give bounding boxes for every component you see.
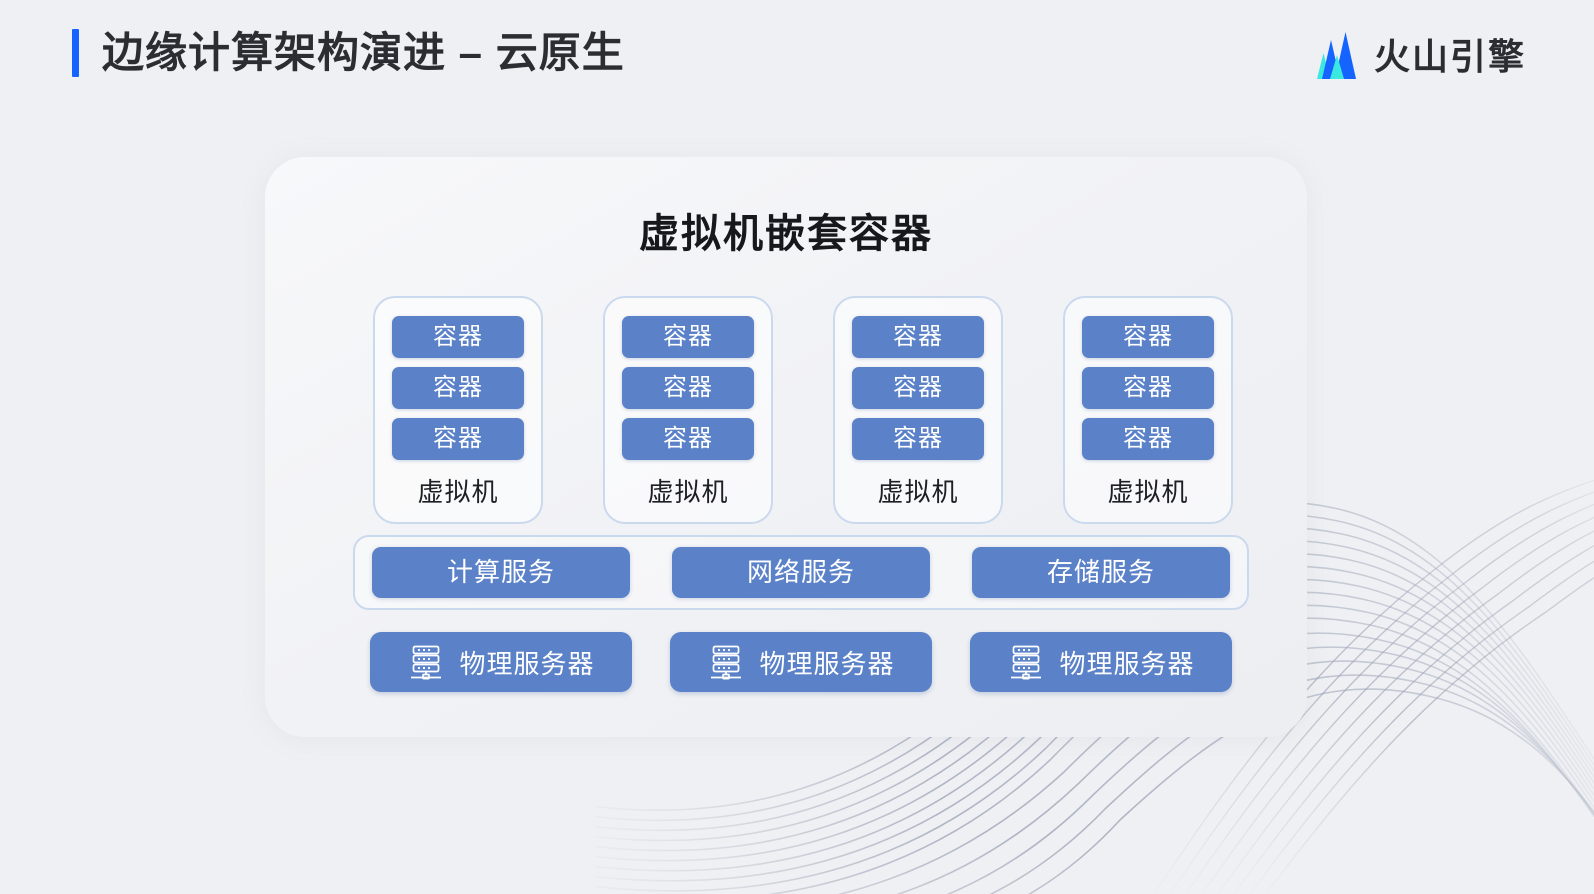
container-chip[interactable]: 容器 xyxy=(392,418,524,460)
physical-server-label: 物理服务器 xyxy=(459,644,594,681)
page-title: 边缘计算架构演进 – 云原生 xyxy=(102,24,625,82)
brand-name: 火山引擎 xyxy=(1374,28,1526,80)
physical-server-chip[interactable]: 物理服务器 xyxy=(370,632,632,692)
container-chip[interactable]: 容器 xyxy=(392,316,524,358)
container-chip[interactable]: 容器 xyxy=(392,367,524,409)
container-chip[interactable]: 容器 xyxy=(852,367,984,409)
container-chip[interactable]: 容器 xyxy=(622,367,754,409)
brand-logo: 火山引擎 xyxy=(1308,28,1526,80)
physical-server-chip[interactable]: 物理服务器 xyxy=(670,632,932,692)
container-chip[interactable]: 容器 xyxy=(1082,316,1214,358)
server-rack-icon xyxy=(407,643,445,681)
container-chip[interactable]: 容器 xyxy=(622,316,754,358)
physical-server-label: 物理服务器 xyxy=(759,644,894,681)
physical-servers-row: 物理服务器 物理服务器 xyxy=(370,632,1232,692)
vm-label: 虚拟机 xyxy=(417,472,498,509)
volcano-mountain-icon xyxy=(1308,29,1360,79)
container-chip[interactable]: 容器 xyxy=(852,316,984,358)
page-header: 边缘计算架构演进 – 云原生 火山引擎 xyxy=(0,0,1594,112)
server-rack-icon xyxy=(1007,643,1045,681)
container-chip[interactable]: 容器 xyxy=(852,418,984,460)
physical-server-label: 物理服务器 xyxy=(1059,644,1194,681)
server-rack-icon xyxy=(707,643,745,681)
card-title: 虚拟机嵌套容器 xyxy=(265,201,1307,259)
title-accent-bar xyxy=(72,29,79,77)
container-chip[interactable]: 容器 xyxy=(1082,367,1214,409)
architecture-card: 虚拟机嵌套容器 容器 容器 容器 虚拟机 容器 容器 容器 虚拟机 容器 容器 … xyxy=(265,157,1307,737)
services-layer: 计算服务 网络服务 存储服务 xyxy=(353,535,1249,610)
service-chip-network[interactable]: 网络服务 xyxy=(672,547,930,598)
vm-box[interactable]: 容器 容器 容器 虚拟机 xyxy=(833,296,1003,524)
vm-box[interactable]: 容器 容器 容器 虚拟机 xyxy=(1063,296,1233,524)
physical-server-chip[interactable]: 物理服务器 xyxy=(970,632,1232,692)
service-chip-compute[interactable]: 计算服务 xyxy=(372,547,630,598)
vm-label: 虚拟机 xyxy=(647,472,728,509)
vm-label: 虚拟机 xyxy=(877,472,958,509)
container-chip[interactable]: 容器 xyxy=(622,418,754,460)
service-chip-storage[interactable]: 存储服务 xyxy=(972,547,1230,598)
container-chip[interactable]: 容器 xyxy=(1082,418,1214,460)
vm-box[interactable]: 容器 容器 容器 虚拟机 xyxy=(603,296,773,524)
virtual-machine-row: 容器 容器 容器 虚拟机 容器 容器 容器 虚拟机 容器 容器 容器 虚拟机 容… xyxy=(373,296,1233,524)
vm-label: 虚拟机 xyxy=(1107,472,1188,509)
vm-box[interactable]: 容器 容器 容器 虚拟机 xyxy=(373,296,543,524)
